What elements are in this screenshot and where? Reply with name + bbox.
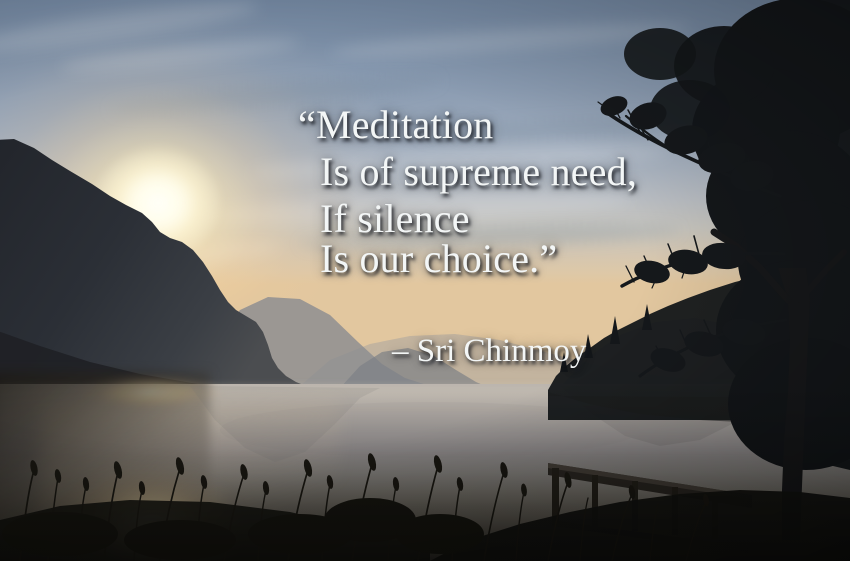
foreground-reeds xyxy=(0,0,850,561)
quote-image: “Meditation Is of supreme need, If silen… xyxy=(0,0,850,561)
